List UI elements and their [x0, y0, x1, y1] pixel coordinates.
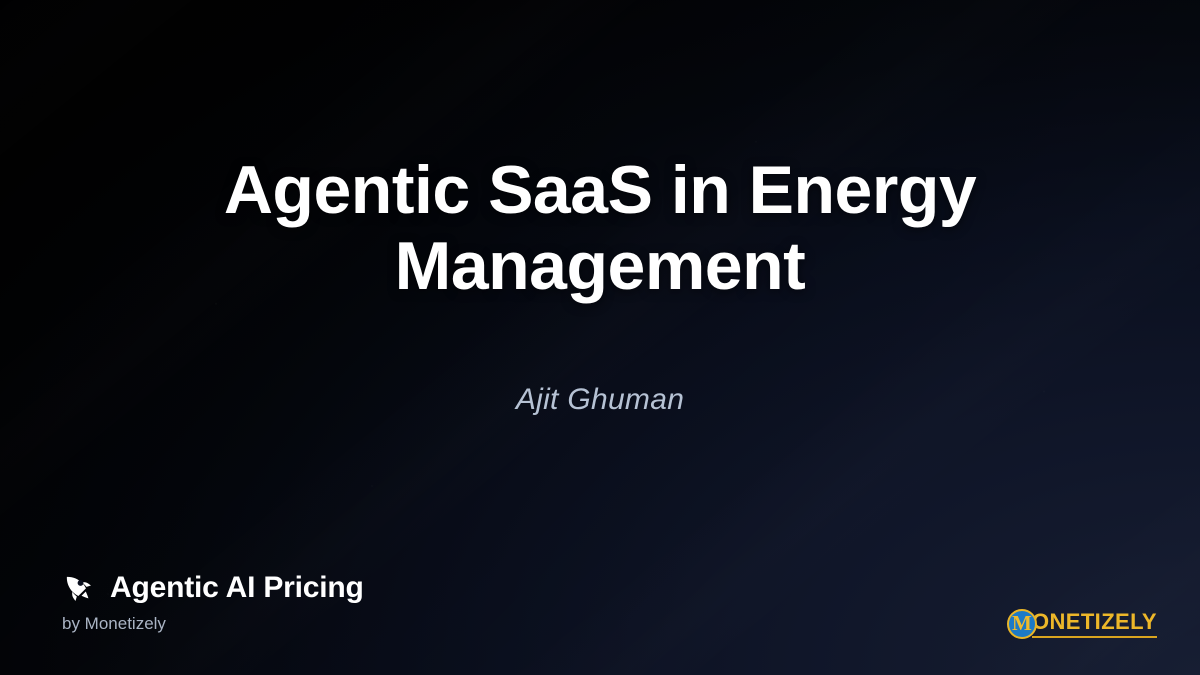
logo-mark-letter: M [1012, 613, 1032, 634]
rocket-icon [60, 570, 96, 606]
slide-subtitle-presenter: Ajit Ghuman [0, 383, 1200, 417]
slide-stage: Agentic SaaS in Energy Management Ajit G… [0, 0, 1200, 675]
brand-block: Agentic AI Pricing by Monetizely [60, 570, 364, 632]
title-block: Agentic SaaS in Energy Management [0, 152, 1200, 304]
logo-underline [1032, 636, 1157, 638]
brand-name: Agentic AI Pricing [110, 573, 364, 603]
logo-wordmark: ONETIZELY [1032, 611, 1157, 633]
logo-wordmark-wrap: ONETIZELY [1032, 611, 1157, 638]
monetizely-logo: M ONETIZELY [1007, 609, 1157, 639]
logo-circle-mark: M [1007, 609, 1037, 639]
slide-title: Agentic SaaS in Energy Management [110, 152, 1090, 304]
presentation-slide: Agentic SaaS in Energy Management Ajit G… [0, 0, 1200, 675]
brand-title-row: Agentic AI Pricing [60, 570, 364, 606]
brand-byline: by Monetizely [60, 615, 364, 632]
